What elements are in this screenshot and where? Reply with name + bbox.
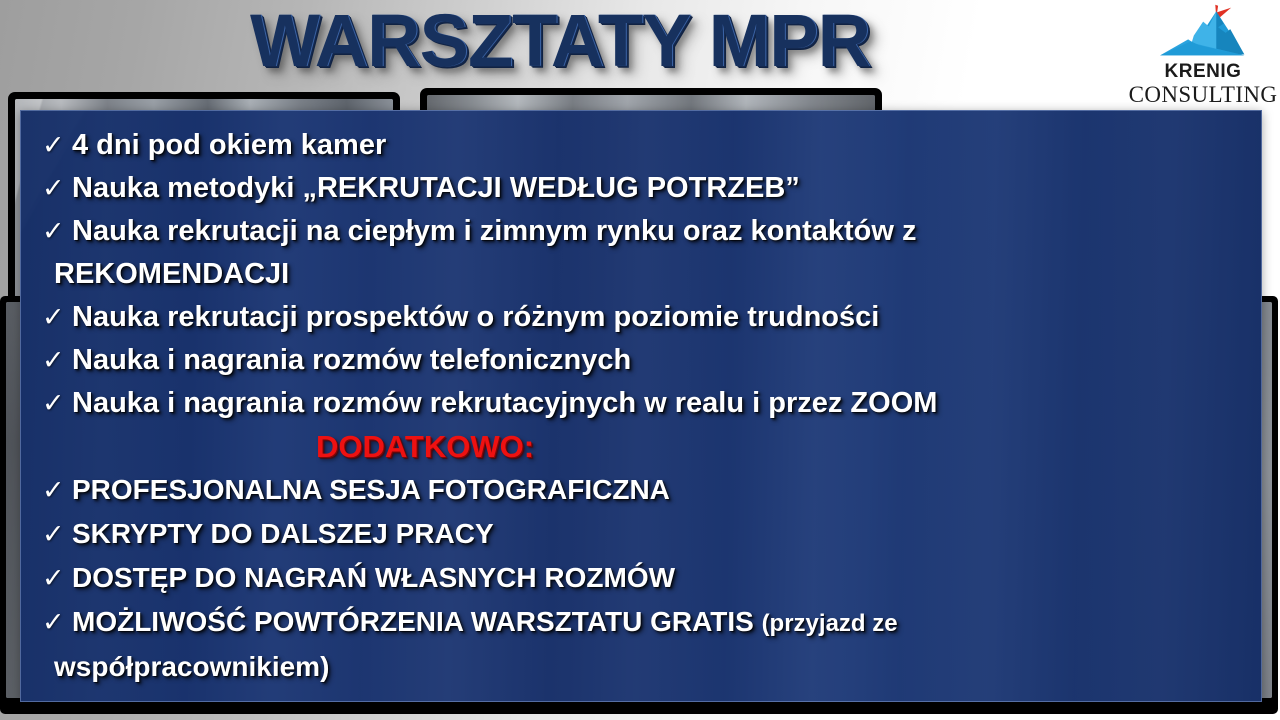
slide-title: WARSZTATY MPR	[250, 0, 870, 84]
bullet-text: Nauka i nagrania rozmów rekrutacyjnych w…	[72, 387, 937, 419]
checkmark-icon: ✓	[42, 339, 72, 382]
bullet-item: współpracownikiem)	[42, 645, 1248, 688]
bullet-item: ✓Nauka rekrutacji na ciepłym i zimnym ry…	[42, 210, 1248, 253]
bullet-text: MOŻLIWOŚĆ POWTÓRZENIA WARSZTATU GRATIS	[72, 606, 762, 637]
bullet-item: ✓Nauka rekrutacji prospektów o różnym po…	[42, 296, 1248, 339]
bullet-text: współpracownikiem)	[54, 651, 329, 682]
presentation-slide: WARSZTATY MPR KRENIG CONSULTING ✓4 dni p…	[0, 0, 1280, 720]
bullet-item: ✓SKRYPTY DO DALSZEJ PRACY	[42, 512, 1248, 556]
mountain-logo-icon	[1147, 2, 1259, 60]
checkmark-icon: ✓	[42, 557, 72, 600]
bullet-text: Nauka rekrutacji prospektów o różnym poz…	[72, 301, 879, 333]
title-area: WARSZTATY MPR	[0, 0, 1120, 84]
bullet-text: DOSTĘP DO NAGRAŃ WŁASNYCH ROZMÓW	[72, 562, 675, 593]
bullet-item: ✓DOSTĘP DO NAGRAŃ WŁASNYCH ROZMÓW	[42, 556, 1248, 600]
bullet-item: ✓Nauka i nagrania rozmów rekrutacyjnych …	[42, 382, 1248, 425]
bullet-text: DODATKOWO:	[316, 429, 534, 464]
bullet-item: DODATKOWO:	[42, 425, 1248, 468]
bullet-item: ✓Nauka i nagrania rozmów telefonicznych	[42, 339, 1248, 382]
checkmark-icon: ✓	[42, 210, 72, 253]
bullet-text-secondary: (przyjazd ze	[762, 610, 898, 637]
bullet-text: Nauka metodyki „REKRUTACJI WEDŁUG POTRZE…	[72, 172, 800, 204]
company-logo: KRENIG CONSULTING	[1128, 2, 1278, 107]
bullet-text: PROFESJONALNA SESJA FOTOGRAFICZNA	[72, 474, 670, 505]
checkmark-icon: ✓	[42, 601, 72, 644]
checkmark-icon: ✓	[42, 513, 72, 556]
bullet-text: Nauka i nagrania rozmów telefonicznych	[72, 344, 631, 376]
bullet-item: ✓Nauka metodyki „REKRUTACJI WEDŁUG POTRZ…	[42, 167, 1248, 210]
bullet-item: ✓MOŻLIWOŚĆ POWTÓRZENIA WARSZTATU GRATIS …	[42, 600, 1248, 645]
bullet-item: REKOMENDACJI	[42, 253, 1248, 296]
checkmark-icon: ✓	[42, 124, 72, 167]
bullet-text: Nauka rekrutacji na ciepłym i zimnym ryn…	[72, 215, 917, 247]
checkmark-icon: ✓	[42, 382, 72, 425]
bullet-text: SKRYPTY DO DALSZEJ PRACY	[72, 518, 494, 549]
content-panel: ✓4 dni pod okiem kamer✓Nauka metodyki „R…	[20, 110, 1262, 702]
logo-company-name: KRENIG	[1128, 61, 1278, 82]
bullet-text: REKOMENDACJI	[54, 258, 289, 290]
bullet-item: ✓4 dni pod okiem kamer	[42, 124, 1248, 167]
logo-company-subtitle: CONSULTING	[1128, 82, 1278, 107]
checkmark-icon: ✓	[42, 296, 72, 339]
bullet-item: ✓PROFESJONALNA SESJA FOTOGRAFICZNA	[42, 468, 1248, 512]
checkmark-icon: ✓	[42, 167, 72, 210]
checkmark-icon: ✓	[42, 469, 72, 512]
bullet-list: ✓4 dni pod okiem kamer✓Nauka metodyki „R…	[20, 110, 1262, 688]
bullet-text: 4 dni pod okiem kamer	[72, 129, 386, 161]
